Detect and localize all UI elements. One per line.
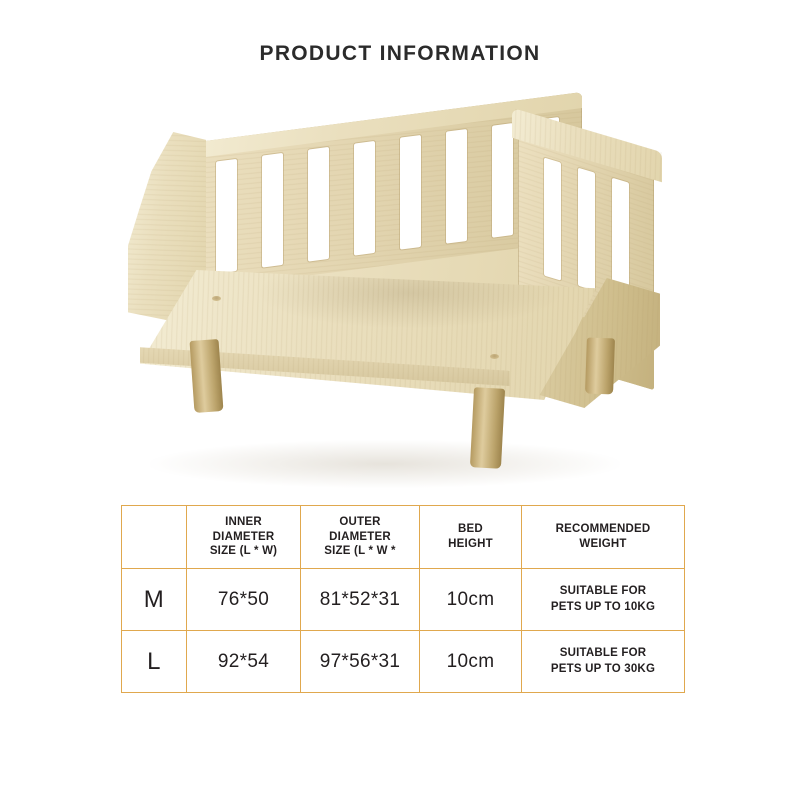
cell-weight-l: SUITABLE FOR PETS UP TO 30KG xyxy=(522,631,685,693)
cell-inner-m: 76*50 xyxy=(187,569,301,631)
back-slat-gap xyxy=(308,147,329,262)
back-slat-gap xyxy=(262,153,283,268)
back-slat-gap xyxy=(492,123,513,238)
cell-weight-m: SUITABLE FOR PETS UP TO 10KG xyxy=(522,569,685,631)
bed-leg-front-right xyxy=(470,387,505,469)
header-line: SIZE (L * W) xyxy=(187,544,300,559)
header-line: SIZE (L * W * xyxy=(301,544,419,559)
table-header-row: INNER DIAMETER SIZE (L * W) OUTER DIAMET… xyxy=(122,506,685,569)
weight-line: PETS UP TO 30KG xyxy=(522,662,684,678)
back-slat-gap xyxy=(446,129,467,244)
header-line: WEIGHT xyxy=(522,537,684,552)
screw-hole xyxy=(490,354,499,359)
header-cell-bed-height: BED HEIGHT xyxy=(420,506,522,569)
weight-line: SUITABLE FOR xyxy=(522,646,684,662)
cell-height-l: 10cm xyxy=(420,631,522,693)
back-slat-gap xyxy=(354,141,375,256)
product-image xyxy=(120,110,680,485)
header-line: BED xyxy=(420,522,521,537)
header-cell-outer-diameter: OUTER DIAMETER SIZE (L * W * xyxy=(301,506,420,569)
cell-outer-m: 81*52*31 xyxy=(301,569,420,631)
back-slat-gap xyxy=(216,159,237,274)
table-row: M 76*50 81*52*31 10cm SUITABLE FOR PETS … xyxy=(122,569,685,631)
header-line: HEIGHT xyxy=(420,537,521,552)
header-line: DIAMETER xyxy=(187,530,300,545)
cell-outer-l: 97*56*31 xyxy=(301,631,420,693)
header-cell-empty xyxy=(122,506,187,569)
weight-line: SUITABLE FOR xyxy=(522,584,684,600)
cell-size-m: M xyxy=(122,569,187,631)
header-line: INNER xyxy=(187,515,300,530)
side-slat-gap xyxy=(544,158,561,281)
header-line: DIAMETER xyxy=(301,530,419,545)
page-title: PRODUCT INFORMATION xyxy=(0,42,800,66)
header-cell-inner-diameter: INNER DIAMETER SIZE (L * W) xyxy=(187,506,301,569)
header-line: RECOMMENDED xyxy=(522,522,684,537)
side-slat-gap xyxy=(578,168,595,291)
cell-inner-l: 92*54 xyxy=(187,631,301,693)
cell-height-m: 10cm xyxy=(420,569,522,631)
weight-line: PETS UP TO 10KG xyxy=(522,600,684,616)
specification-table: INNER DIAMETER SIZE (L * W) OUTER DIAMET… xyxy=(121,505,685,693)
cell-size-l: L xyxy=(122,631,187,693)
screw-hole xyxy=(212,296,221,301)
table-body: INNER DIAMETER SIZE (L * W) OUTER DIAMET… xyxy=(122,506,685,693)
bed-leg-rear-right xyxy=(585,338,615,395)
bed-leg-front-left xyxy=(190,339,224,413)
header-cell-recommended-weight: RECOMMENDED WEIGHT xyxy=(522,506,685,569)
back-slat-gap xyxy=(400,135,421,250)
wooden-pet-bed-illustration xyxy=(120,110,680,485)
header-line: OUTER xyxy=(301,515,419,530)
floor-shadow xyxy=(150,440,620,488)
table-row: L 92*54 97*56*31 10cm SUITABLE FOR PETS … xyxy=(122,631,685,693)
